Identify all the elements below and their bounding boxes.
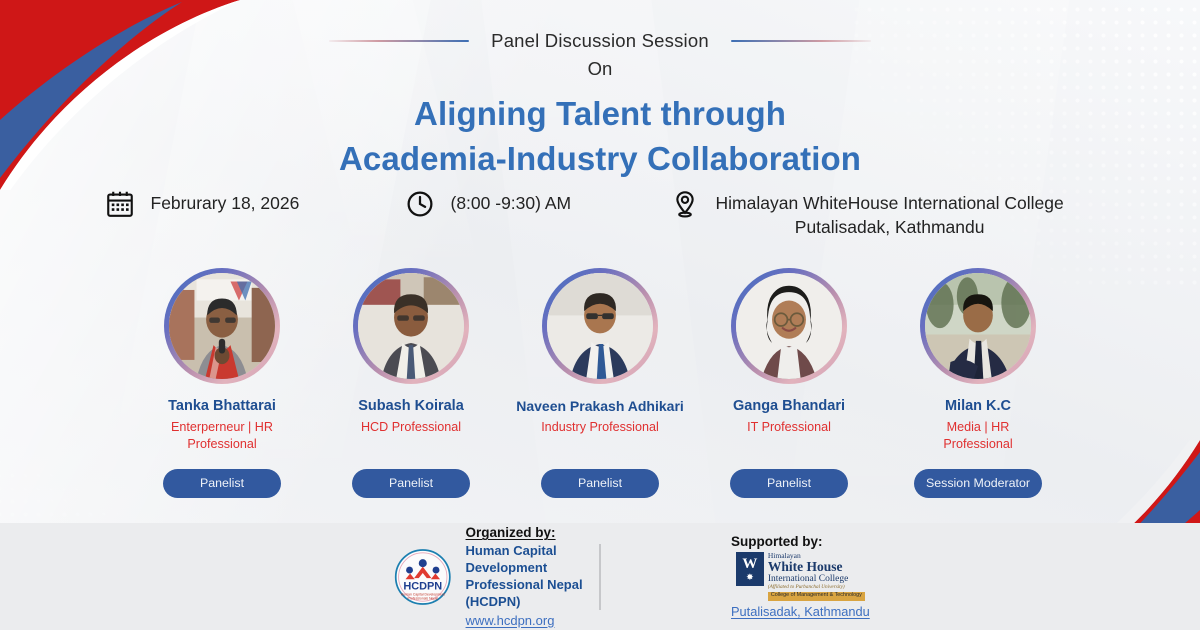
poster-header: Panel Discussion Session On Aligning Tal… (0, 30, 1200, 182)
panelist-role-block: Industry Professional (517, 415, 683, 459)
on-label: On (0, 58, 1200, 80)
decorative-rule-right (731, 40, 871, 42)
event-venue-text: Himalayan WhiteHouse International Colle… (716, 186, 1064, 239)
avatar (925, 273, 1031, 379)
avatar-ring (731, 268, 847, 384)
clock-icon (403, 187, 437, 221)
organizer-name-line-1: Human Capital Development (466, 542, 599, 576)
organizer-website-link[interactable]: www.hcdpn.org (466, 612, 599, 629)
panelist-card: Milan K.C Media | HR Professional Sessio… (895, 268, 1061, 498)
whitehouse-crest-icon: W ✸ (736, 552, 764, 586)
panelist-badge[interactable]: Panelist (541, 469, 659, 498)
panelist-role-line-1: Media | HR (895, 419, 1061, 436)
panelist-role-line-1: Industry Professional (517, 419, 683, 436)
panelist-name: Ganga Bhandari (733, 398, 845, 415)
panelist-role-block: HCD Professional (328, 415, 494, 459)
whitehouse-line-2: White House (768, 560, 865, 574)
panelist-card: Ganga Bhandari IT Professional Panelist (706, 268, 872, 498)
event-date-text: Februrary 18, 2026 (151, 186, 300, 215)
whitehouse-department-bar: College of Management & Technology (768, 592, 865, 601)
hcdpn-logo: HCDPN Human Capital Development Professi… (394, 539, 452, 615)
svg-text:Professionals Nepal: Professionals Nepal (407, 596, 438, 600)
avatar (736, 273, 842, 379)
eyebrow-row: Panel Discussion Session (0, 30, 1200, 52)
avatar-ring (353, 268, 469, 384)
event-venue: Himalayan WhiteHouse International Colle… (668, 186, 1098, 239)
title-line-1: Aligning Talent through (0, 92, 1200, 137)
supporter-block: Supported by: W ✸ Himalayan White House … (601, 534, 1001, 619)
panelist-list: Tanka Bhattarai Enterperneur | HR Profes… (0, 268, 1200, 498)
supporter-text: Supported by: W ✸ Himalayan White House … (731, 534, 870, 619)
avatar-ring (164, 268, 280, 384)
panelist-card: Naveen Prakash Adhikari Industry Profess… (517, 268, 683, 498)
svg-text:HCDPN: HCDPN (403, 580, 442, 592)
panelist-badge[interactable]: Panelist (163, 469, 281, 498)
poster-footer: HCDPN Human Capital Development Professi… (0, 523, 1200, 630)
calendar-icon (103, 187, 137, 221)
whitehouse-affiliation: (Affiliated to Purbanchal University) (768, 585, 865, 591)
venue-line-1: Himalayan WhiteHouse International Colle… (716, 193, 1064, 213)
panelist-role-line-1: Enterperneur | HR (139, 419, 305, 436)
panelist-badge[interactable]: Panelist (352, 469, 470, 498)
whitehouse-wordmark: Himalayan White House International Coll… (768, 552, 865, 601)
panelist-role-line-2: Professional (895, 436, 1061, 453)
panelist-badge[interactable]: Panelist (730, 469, 848, 498)
avatar-ring (920, 268, 1036, 384)
whitehouse-crest-letter: W (742, 557, 757, 572)
panelist-name: Milan K.C (945, 398, 1011, 415)
title-line-2: Academia-Industry Collaboration (0, 137, 1200, 182)
panelist-name: Subash Koirala (358, 398, 464, 415)
avatar (358, 273, 464, 379)
whitehouse-crest-star-icon: ✸ (746, 573, 754, 582)
event-date: Februrary 18, 2026 (103, 186, 403, 221)
whitehouse-college-logo: W ✸ Himalayan White House International … (736, 552, 865, 601)
panelist-role-block: Enterperneur | HR Professional (139, 415, 305, 459)
avatar (547, 273, 653, 379)
panelist-role-line-1: IT Professional (706, 419, 872, 436)
panelist-name: Tanka Bhattarai (168, 398, 276, 415)
organizer-name-line-2: Professional Nepal (HCDPN) (466, 576, 599, 610)
organizer-block: HCDPN Human Capital Development Professi… (199, 524, 599, 629)
panelist-card: Subash Koirala HCD Professional Panelist (328, 268, 494, 498)
organizer-text: Organized by: Human Capital Development … (466, 524, 599, 629)
venue-line-2: Putalisadak, Kathmandu (795, 217, 985, 237)
session-type-label: Panel Discussion Session (491, 30, 709, 52)
event-time: (8:00 -9:30) AM (403, 186, 668, 221)
organized-by-label: Organized by: (466, 524, 599, 542)
panelist-role-line-2 (706, 436, 872, 453)
event-poster: Panel Discussion Session On Aligning Tal… (0, 0, 1200, 630)
panelist-badge[interactable]: Session Moderator (914, 469, 1042, 498)
panelist-role-line-1: HCD Professional (328, 419, 494, 436)
page-title: Aligning Talent through Academia-Industr… (0, 92, 1200, 182)
panelist-role-line-2 (517, 436, 683, 453)
decorative-rule-left (329, 40, 469, 42)
supported-by-label: Supported by: (731, 534, 823, 549)
event-details-row: Februrary 18, 2026 (8:00 -9:30) AM Him (0, 186, 1200, 239)
avatar (169, 273, 275, 379)
panelist-role-block: Media | HR Professional (895, 415, 1061, 459)
event-time-text: (8:00 -9:30) AM (451, 186, 572, 215)
supporter-address-link[interactable]: Putalisadak, Kathmandu (731, 604, 870, 619)
location-pin-icon (668, 187, 702, 221)
panelist-card: Tanka Bhattarai Enterperneur | HR Profes… (139, 268, 305, 498)
svg-text:Human Capital Development: Human Capital Development (401, 592, 445, 596)
avatar-ring (542, 268, 658, 384)
panelist-name: Naveen Prakash Adhikari (516, 398, 684, 415)
panelist-role-line-2 (328, 436, 494, 453)
panelist-role-block: IT Professional (706, 415, 872, 459)
panelist-role-line-2: Professional (139, 436, 305, 453)
